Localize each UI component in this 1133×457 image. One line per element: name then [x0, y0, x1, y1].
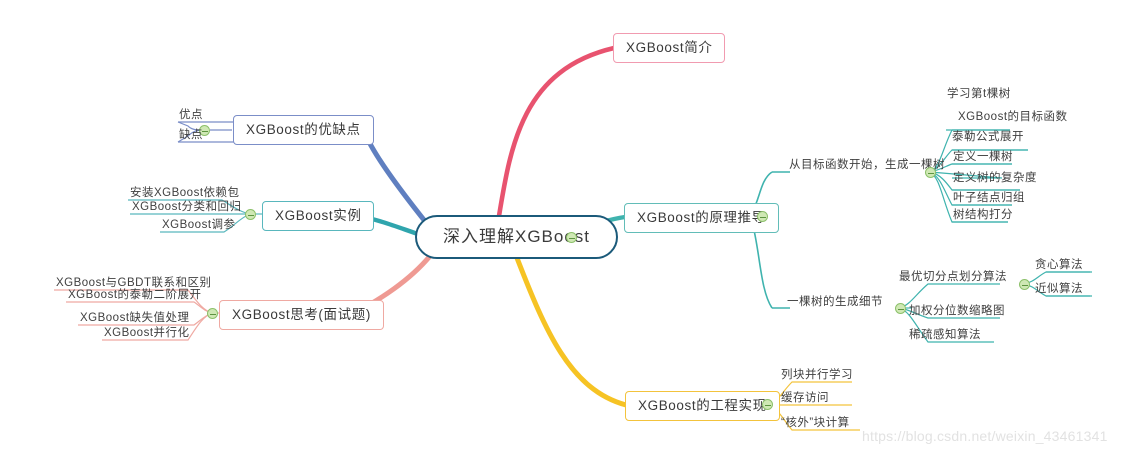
leaf-objective-0[interactable]: 学习第t棵树: [944, 88, 1014, 103]
leaf-tree-generation-2[interactable]: 稀疏感知算法: [906, 329, 984, 344]
leaf-engineering-2[interactable]: “核外”块计算: [778, 417, 853, 432]
root-node[interactable]: 深入理解XGBoost: [415, 215, 618, 259]
objective-function-collapse-toggle[interactable]: [925, 167, 936, 178]
leaf-tree-generation-1[interactable]: 加权分位数缩略图: [906, 305, 1008, 320]
branch-node-thinking[interactable]: XGBoost思考(面试题): [219, 300, 384, 330]
leaf-objective-4[interactable]: 定义树的复杂度: [950, 172, 1040, 187]
leaf-split-1[interactable]: 近似算法: [1032, 283, 1086, 298]
example-collapse-toggle[interactable]: [245, 209, 256, 220]
subbranch-objective-function[interactable]: 从目标函数开始，生成一棵树: [786, 159, 948, 174]
leaf-example-0[interactable]: 安装XGBoost依赖包: [127, 187, 243, 202]
leaf-objective-6[interactable]: 树结构打分: [950, 209, 1016, 224]
leaf-example-1[interactable]: XGBoost分类和回归: [129, 201, 245, 216]
leaf-proscons-0[interactable]: 优点: [176, 109, 206, 124]
engineering-collapse-toggle[interactable]: [762, 399, 773, 410]
leaf-thinking-2[interactable]: XGBoost缺失值处理: [77, 312, 193, 327]
root-collapse-toggle[interactable]: [566, 232, 577, 243]
watermark-text: https://blog.csdn.net/weixin_43461341: [862, 428, 1108, 444]
thinking-collapse-toggle[interactable]: [207, 308, 218, 319]
leaf-proscons-1[interactable]: 缺点: [176, 129, 206, 144]
theory-collapse-toggle[interactable]: [757, 211, 768, 222]
branch-node-proscons[interactable]: XGBoost的优缺点: [233, 115, 374, 145]
leaf-objective-3[interactable]: 定义一棵树: [950, 151, 1016, 166]
branch-node-example[interactable]: XGBoost实例: [262, 201, 374, 231]
leaf-objective-5[interactable]: 叶子结点归组: [950, 192, 1028, 207]
leaf-engineering-1[interactable]: 缓存访问: [778, 392, 832, 407]
branch-node-intro[interactable]: XGBoost简介: [613, 33, 725, 63]
leaf-split-algorithm[interactable]: 最优切分点划分算法: [896, 271, 1010, 286]
leaf-objective-2[interactable]: 泰勒公式展开: [949, 131, 1027, 146]
leaf-engineering-0[interactable]: 列块并行学习: [778, 369, 856, 384]
leaf-example-2[interactable]: XGBoost调参: [159, 219, 239, 234]
tree-generation-collapse-toggle[interactable]: [895, 303, 906, 314]
branch-node-engineering[interactable]: XGBoost的工程实现: [625, 391, 780, 421]
leaf-thinking-1[interactable]: XGBoost的泰勒二阶展开: [65, 289, 205, 304]
leaf-split-0[interactable]: 贪心算法: [1032, 259, 1086, 274]
subbranch-tree-generation[interactable]: 一棵树的生成细节: [784, 296, 886, 311]
split-algorithm-collapse-toggle[interactable]: [1019, 279, 1030, 290]
leaf-objective-1[interactable]: XGBoost的目标函数: [955, 111, 1071, 126]
leaf-thinking-3[interactable]: XGBoost并行化: [101, 327, 193, 342]
mindmap-canvas: 深入理解XGBoost XGBoost简介 XGBoost的优缺点 优点 缺点 …: [0, 0, 1133, 457]
branch-node-theory[interactable]: XGBoost的原理推导: [624, 203, 779, 233]
